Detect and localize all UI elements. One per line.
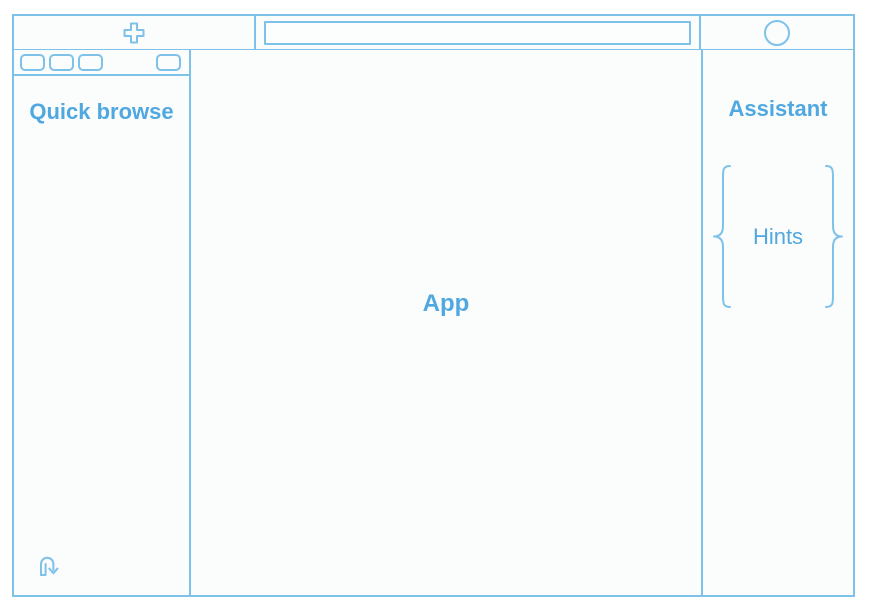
sidebar-tool-4-button[interactable]	[156, 54, 181, 71]
wireframe-window: Quick browse App Assistant	[12, 14, 855, 597]
top-bar	[12, 14, 855, 51]
sidebar-title: Quick browse	[14, 98, 189, 126]
hints-block: Hints	[710, 164, 846, 309]
u-turn-arrow-icon[interactable]	[36, 553, 62, 579]
app-canvas[interactable]: App	[191, 50, 703, 597]
address-bar-cell	[254, 16, 701, 49]
body-region: Quick browse App Assistant	[12, 50, 855, 597]
sidebar-tool-3-button[interactable]	[78, 54, 103, 71]
address-input[interactable]	[264, 21, 691, 45]
sidebar-footer	[14, 537, 189, 595]
sidebar-toolbar	[14, 50, 189, 76]
new-tab-cell	[14, 16, 254, 49]
left-brace-icon	[712, 164, 734, 309]
sidebar-content-area	[14, 126, 189, 538]
hints-label: Hints	[753, 224, 803, 250]
assistant-panel: Assistant Hints	[703, 50, 855, 597]
right-brace-icon	[822, 164, 844, 309]
plus-icon[interactable]	[122, 21, 146, 45]
assistant-title: Assistant	[728, 96, 827, 122]
sidebar-tool-2-button[interactable]	[49, 54, 74, 71]
account-cell	[701, 16, 853, 49]
sidebar-tool-1-button[interactable]	[20, 54, 45, 71]
app-label: App	[423, 290, 470, 318]
quick-browse-sidebar: Quick browse	[12, 50, 191, 597]
circle-avatar-icon[interactable]	[764, 20, 790, 46]
